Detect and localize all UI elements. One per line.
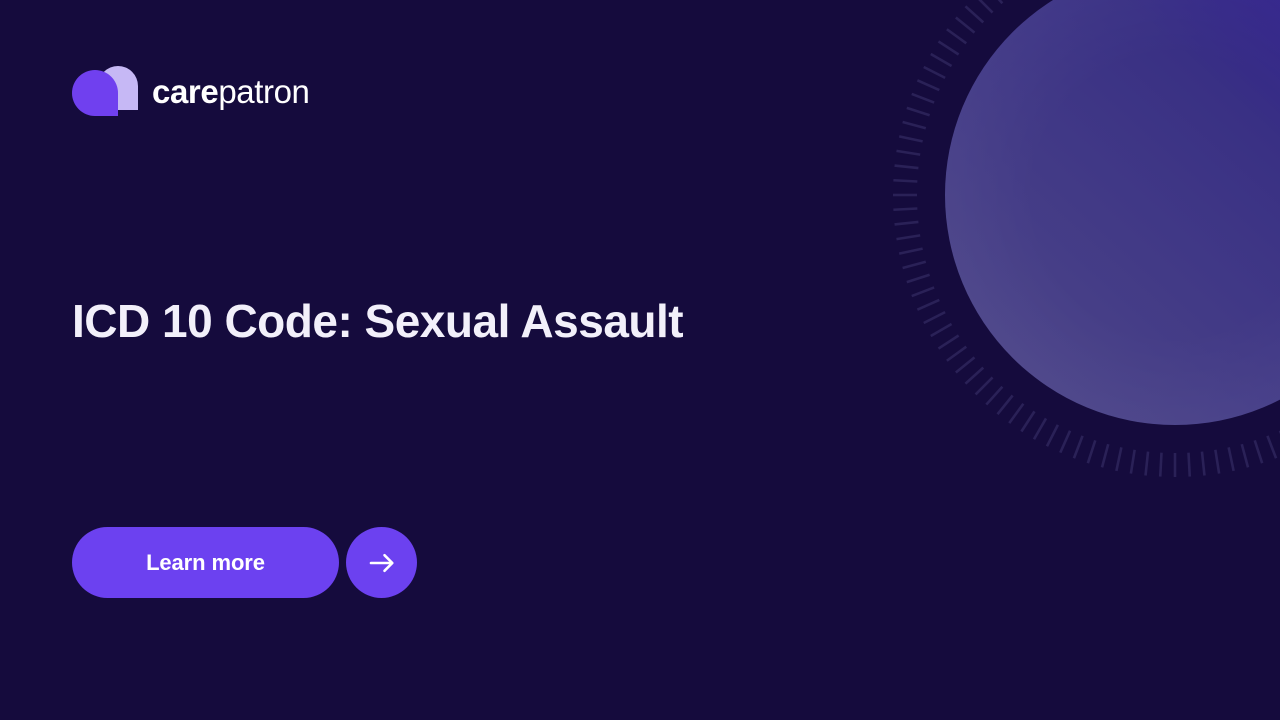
page-title: ICD 10 Code: Sexual Assault <box>72 294 872 348</box>
carepatron-logo[interactable]: carepatron <box>72 66 309 116</box>
logo-wordmark: carepatron <box>152 75 309 108</box>
logo-wordmark-light: patron <box>218 73 309 110</box>
gradient-circle-shape <box>945 0 1280 425</box>
arrow-right-icon <box>365 546 399 580</box>
decorative-graphic <box>893 0 1280 477</box>
learn-more-arrow-button[interactable] <box>346 527 417 598</box>
dashed-tick-ring-group <box>893 0 1280 477</box>
logo-wordmark-bold: care <box>152 73 218 110</box>
cta-group: Learn more <box>72 527 417 598</box>
learn-more-button[interactable]: Learn more <box>72 527 339 598</box>
logo-petal-front-shape <box>72 70 118 116</box>
hero-banner: carepatron ICD 10 Code: Sexual Assault L… <box>0 0 1280 720</box>
carepatron-petal-logo-icon <box>72 66 138 116</box>
